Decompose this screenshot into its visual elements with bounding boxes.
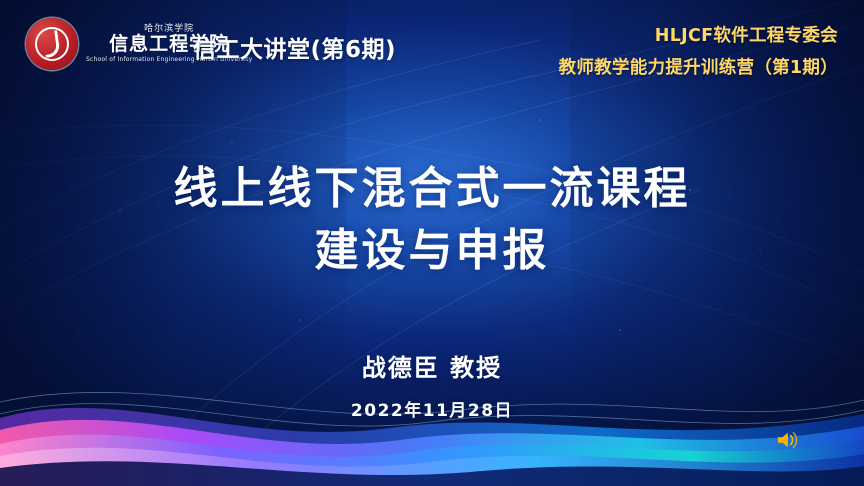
university-crest-icon: [26, 18, 78, 70]
presentation-slide: 哈尔滨学院 信息工程学院 School of Information Engin…: [0, 0, 864, 486]
slide-header: 哈尔滨学院 信息工程学院 School of Information Engin…: [0, 0, 864, 92]
title-line-1: 线上线下混合式一流课程: [0, 158, 864, 220]
organizer-block: HLJCF软件工程专委会 教师教学能力提升训练营（第1期）: [559, 22, 838, 79]
slide-title: 线上线下混合式一流课程 建设与申报: [0, 158, 864, 283]
organizer-line-2: 教师教学能力提升训练营（第1期）: [559, 54, 838, 79]
title-line-2: 建设与申报: [0, 220, 864, 282]
organizer-line-1: HLJCF软件工程专委会: [559, 22, 838, 47]
speaker-volume-icon[interactable]: [776, 430, 798, 450]
lecture-series-title: 信工大讲堂(第6期): [193, 30, 396, 64]
decorative-wave-ribbons: [0, 356, 864, 486]
